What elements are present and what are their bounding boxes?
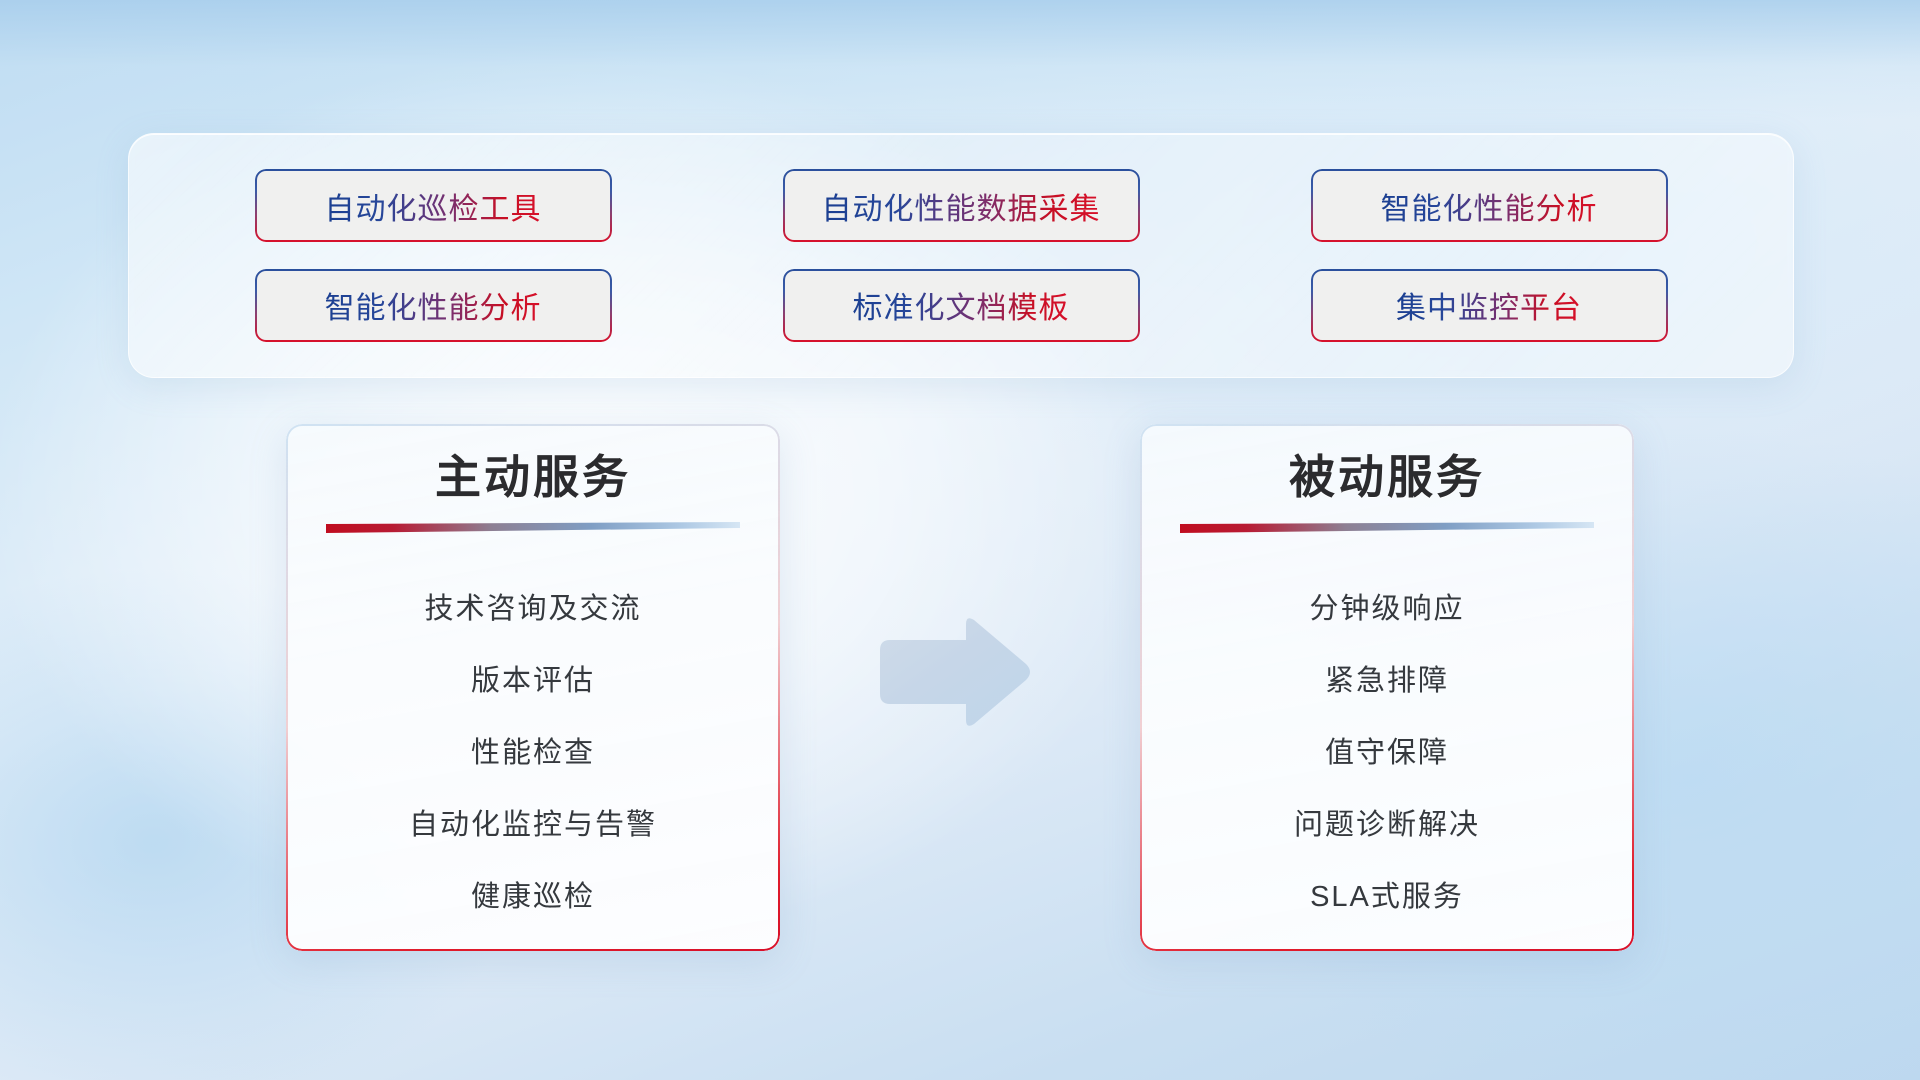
service-card-reactive[interactable]: 被动服务 分钟级响应 紧急排障 值守保障: [1140, 424, 1634, 951]
capability-pill[interactable]: 标准化文档模板: [783, 269, 1140, 342]
capability-pill[interactable]: 自动化巡检工具: [255, 169, 612, 242]
capability-pill-label: 集中监控平台: [1396, 283, 1582, 327]
title-divider: [1180, 522, 1594, 533]
capability-pill[interactable]: 智能化性能分析: [255, 269, 612, 342]
list-item: SLA式服务: [1174, 861, 1600, 933]
list-item: 健康巡检: [320, 861, 746, 933]
list-item: 分钟级响应: [1174, 573, 1600, 645]
title-divider: [326, 522, 740, 533]
right-arrow-icon: [874, 614, 1034, 730]
service-card-title: 被动服务: [1174, 450, 1600, 504]
capability-pill[interactable]: 智能化性能分析: [1311, 169, 1668, 242]
list-item: 问题诊断解决: [1174, 789, 1600, 861]
capability-pill-label: 标准化文档模板: [853, 283, 1070, 327]
list-item: 紧急排障: [1174, 645, 1600, 717]
list-item: 自动化监控与告警: [320, 789, 746, 861]
capability-pill[interactable]: 集中监控平台: [1311, 269, 1668, 342]
service-card-proactive[interactable]: 主动服务 技术咨询及交流 版本评估 性能检查: [286, 424, 780, 951]
service-card-title: 主动服务: [320, 450, 746, 504]
list-item: 版本评估: [320, 645, 746, 717]
capability-pill-label: 智能化性能分析: [1381, 184, 1598, 228]
capability-pill[interactable]: 自动化性能数据采集: [783, 169, 1140, 242]
service-card-list: 分钟级响应 紧急排障 值守保障 问题诊断解决 SLA式服务: [1174, 573, 1600, 933]
list-item: 技术咨询及交流: [320, 573, 746, 645]
background-top-band: [0, 0, 1920, 120]
capability-pill-label: 自动化巡检工具: [325, 184, 542, 228]
list-item: 值守保障: [1174, 717, 1600, 789]
capability-pill-label: 自动化性能数据采集: [822, 184, 1101, 228]
capabilities-panel: 自动化巡检工具 自动化性能数据采集 智能化性能分析 智能化性能分析 标准化文档模…: [128, 133, 1794, 378]
service-card-body: 主动服务 技术咨询及交流 版本评估 性能检查: [286, 424, 780, 951]
service-card-list: 技术咨询及交流 版本评估 性能检查 自动化监控与告警 健康巡检: [320, 573, 746, 933]
capabilities-grid: 自动化巡检工具 自动化性能数据采集 智能化性能分析 智能化性能分析 标准化文档模…: [129, 134, 1793, 377]
service-card-body: 被动服务 分钟级响应 紧急排障 值守保障: [1140, 424, 1634, 951]
capability-pill-label: 智能化性能分析: [325, 283, 542, 327]
list-item: 性能检查: [320, 717, 746, 789]
